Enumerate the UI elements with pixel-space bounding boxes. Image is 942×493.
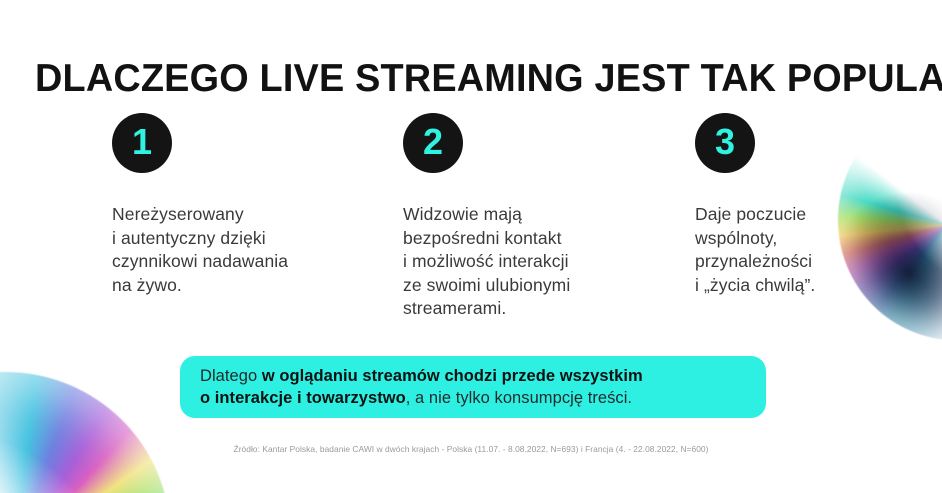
- step-number-badge-1: 1: [112, 113, 172, 173]
- callout-line2-bold: o interakcje i towarzystwo: [200, 389, 406, 407]
- callout-line2-regular: , a nie tylko konsumpcję treści.: [406, 389, 632, 407]
- benefit-text-1: Nereżyserowany i autentyczny dzięki czyn…: [112, 203, 362, 297]
- callout-line-1: Dlatego w oglądaniu streamów chodzi prze…: [200, 366, 746, 388]
- slide-canvas: DLACZEGO LIVE STREAMING JEST TAK POPULAR…: [0, 0, 942, 493]
- benefit-column-3: 3 Daje poczucie wspólnoty, przynależnośc…: [695, 113, 925, 297]
- step-number-badge-2: 2: [403, 113, 463, 173]
- highlight-callout: Dlatego w oglądaniu streamów chodzi prze…: [180, 356, 766, 418]
- bubble-left-icon: [0, 372, 170, 493]
- benefit-text-3: Daje poczucie wspólnoty, przynależności …: [695, 203, 925, 297]
- callout-line-2: o interakcje i towarzystwo, a nie tylko …: [200, 388, 746, 410]
- benefit-column-2: 2 Widzowie mają bezpośredni kontakt i mo…: [403, 113, 653, 321]
- benefit-column-1: 1 Nereżyserowany i autentyczny dzięki cz…: [112, 113, 362, 297]
- callout-line1-bold: w oglądaniu streamów chodzi przede wszys…: [262, 367, 643, 385]
- benefit-text-2: Widzowie mają bezpośredni kontakt i możl…: [403, 203, 653, 321]
- source-footnote: Źródło: Kantar Polska, badanie CAWI w dw…: [0, 443, 942, 455]
- step-number-badge-3: 3: [695, 113, 755, 173]
- page-title: DLACZEGO LIVE STREAMING JEST TAK POPULAR…: [35, 57, 942, 101]
- callout-line1-regular: Dlatego: [200, 367, 262, 385]
